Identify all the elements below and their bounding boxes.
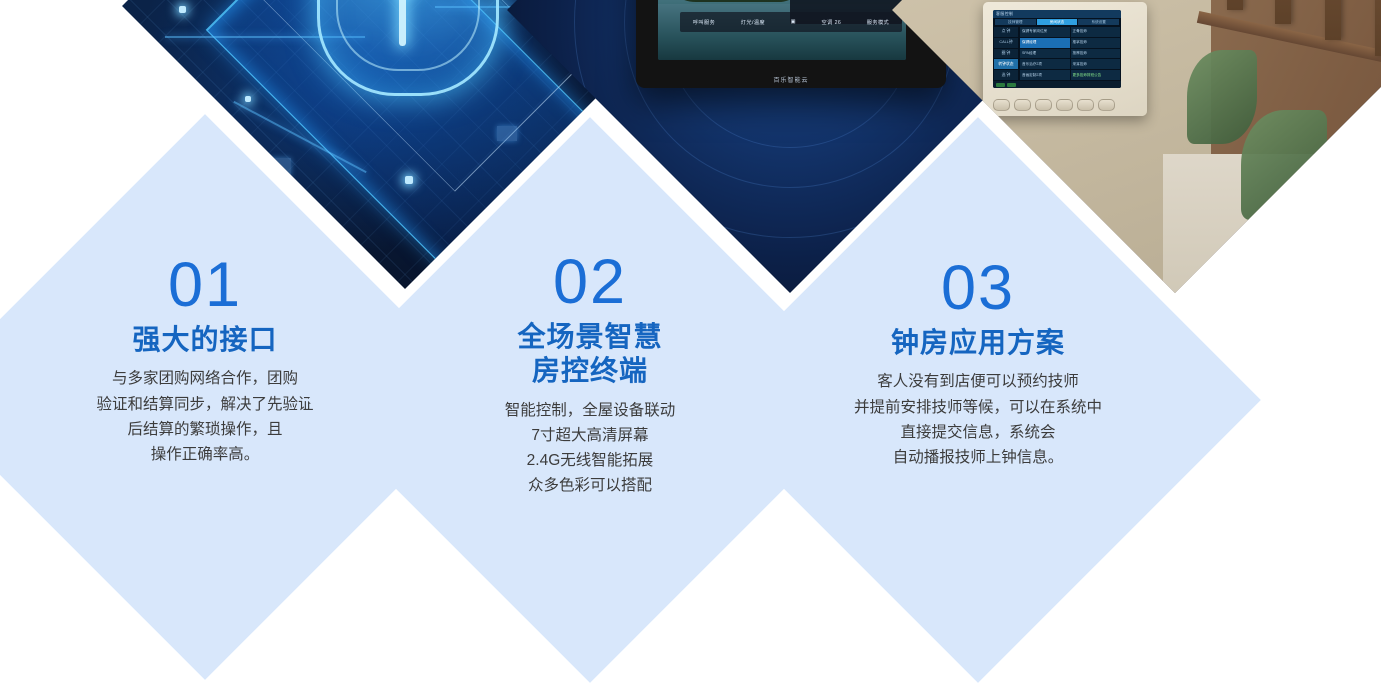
panel-tab-0[interactable]: 技师管理: [995, 19, 1036, 25]
spark: [179, 6, 186, 13]
panel-description-2: 智能控制，全屋设备联动 7寸超大高清屏幕 2.4G无线智能拓展 众多色彩可以搭配: [505, 398, 676, 498]
desc-line: 与多家团购网络合作，团购: [96, 366, 313, 391]
panel-number-1: 01: [168, 253, 242, 317]
bottom-button-2[interactable]: 空调 26: [822, 18, 842, 25]
plant: [1187, 50, 1257, 144]
status-badge: [1007, 82, 1016, 86]
desc-line: 操作正确率高。: [96, 442, 313, 467]
panel-columns: 保健专家岗位房 保健经理 SPA经理 音乐治疗2项 音画定制2项 正骨技师 推拿…: [1019, 26, 1121, 81]
wood-slat: [1227, 0, 1243, 10]
panel-description-3: 客人没有到店便可以预约技师 并提前安排技师等候，可以在系统中 直接提交信息，系统…: [854, 369, 1102, 469]
hardware-key[interactable]: [1098, 99, 1115, 111]
hardware-key[interactable]: [1035, 99, 1052, 111]
diamond-feature-grid: CSI280 22:35 SPA6楼 19℃: [0, 0, 1381, 603]
side-item-3[interactable]: 转钟状态: [994, 59, 1018, 69]
spark: [245, 96, 251, 102]
desc-line: 直接提交信息，系统会: [854, 420, 1102, 445]
panel-number-2: 02: [553, 250, 627, 314]
hardware-key[interactable]: [1077, 99, 1094, 111]
panel-number-3: 03: [941, 256, 1015, 320]
panel-tab-2[interactable]: 系统设置: [1078, 19, 1119, 25]
desc-line: 2.4G无线智能拓展: [505, 448, 676, 473]
panel-screen[interactable]: 客服控制 技师管理 房间状态 系统设置 点 钟 CALL钟 圈 钟 转钟状态: [993, 10, 1121, 88]
left-item-2[interactable]: SPA经理: [1020, 49, 1070, 59]
wood-slat: [1375, 0, 1381, 56]
plant: [1327, 150, 1381, 246]
left-item-4[interactable]: 音画定制2项: [1020, 70, 1070, 80]
desc-line: 自动播报技师上钟信息。: [854, 445, 1102, 470]
panel-tab-1[interactable]: 房间状态: [1037, 19, 1078, 25]
lock-shackle: [399, 0, 406, 46]
desc-line: 客人没有到店便可以预约技师: [854, 369, 1102, 394]
side-item-1[interactable]: CALL钟: [994, 38, 1018, 48]
panel-hardware-keys[interactable]: [993, 99, 1115, 111]
panel-body: 点 钟 CALL钟 圈 钟 转钟状态 选 钟 保健专家岗位房 保健经理: [993, 26, 1121, 81]
hardware-key[interactable]: [993, 99, 1010, 111]
bottom-button-1[interactable]: 灯光/温度: [741, 18, 765, 25]
wall-control-panel[interactable]: 客服控制 技师管理 房间状态 系统设置 点 钟 CALL钟 圈 钟 转钟状态: [983, 2, 1147, 116]
panel-title: 客服控制: [993, 10, 1121, 18]
panel-right-column[interactable]: 正骨技师 推拿技师 按摩技师 采耳技师 更多技师排班公告: [1071, 27, 1121, 80]
wood-slat: [1325, 0, 1341, 40]
chip: [265, 158, 291, 176]
right-item-1[interactable]: 推拿技师: [1071, 38, 1121, 48]
desc-line: 后结算的繁琐操作，且: [96, 417, 313, 442]
spark: [405, 176, 413, 184]
panel-side-nav[interactable]: 点 钟 CALL钟 圈 钟 转钟状态 选 钟: [993, 26, 1019, 81]
desc-line: 智能控制，全屋设备联动: [505, 398, 676, 423]
hardware-key[interactable]: [1056, 99, 1073, 111]
tablet-brand-label: 百乐智能云: [636, 75, 946, 84]
headline-line: 全场景智慧: [517, 320, 662, 354]
left-item-1[interactable]: 保健经理: [1020, 38, 1070, 48]
hardware-key[interactable]: [1014, 99, 1031, 111]
panel-headline-1: 强大的接口: [132, 323, 277, 357]
side-item-0[interactable]: 点 钟: [994, 27, 1018, 37]
left-item-0[interactable]: 保健专家岗位房: [1020, 27, 1070, 37]
desc-line: 众多色彩可以搭配: [505, 473, 676, 498]
status-badge: [996, 82, 1005, 86]
panel-headline-2: 全场景智慧 房控终端: [517, 320, 662, 388]
desc-line: 并提前安排技师等候，可以在系统中: [854, 395, 1102, 420]
island-wallpaper: [680, 0, 792, 2]
right-item-3[interactable]: 采耳技师: [1071, 59, 1121, 69]
side-item-2[interactable]: 圈 钟: [994, 49, 1018, 59]
right-item-4[interactable]: 更多技师排班公告: [1071, 70, 1121, 80]
side-item-4[interactable]: 选 钟: [994, 70, 1018, 80]
wood-slat: [1275, 0, 1291, 24]
desc-line: 验证和结算同步，解决了先验证: [96, 392, 313, 417]
bottom-button-0[interactable]: 呼叫服务: [693, 18, 715, 25]
panel-tabs[interactable]: 技师管理 房间状态 系统设置: [993, 18, 1121, 26]
right-item-0[interactable]: 正骨技师: [1071, 27, 1121, 37]
panel-footer: [993, 81, 1121, 88]
panel-headline-3: 钟房应用方案: [891, 326, 1065, 360]
bottom-button-3[interactable]: 服务模式: [867, 18, 889, 25]
tablet-screen[interactable]: 22:35 SPA6楼 19℃ 11/24 技人 项目 时间: [658, 0, 906, 60]
panel-description-1: 与多家团购网络合作，团购 验证和结算同步，解决了先验证 后结算的繁琐操作，且 操…: [96, 366, 313, 466]
panel-left-column[interactable]: 保健专家岗位房 保健经理 SPA经理 音乐治疗2项 音画定制2项: [1020, 27, 1070, 80]
headline-line: 房控终端: [517, 354, 662, 388]
desc-line: 7寸超大高清屏幕: [505, 423, 676, 448]
left-item-3[interactable]: 音乐治疗2项: [1020, 59, 1070, 69]
tablet-bottom-bar[interactable]: 呼叫服务 灯光/温度 ▣ 空调 26 服务模式: [680, 12, 902, 32]
apps-grid-icon[interactable]: ▣: [791, 19, 796, 25]
right-item-2[interactable]: 按摩技师: [1071, 49, 1121, 59]
chip: [497, 126, 517, 141]
plant: [1241, 110, 1327, 220]
